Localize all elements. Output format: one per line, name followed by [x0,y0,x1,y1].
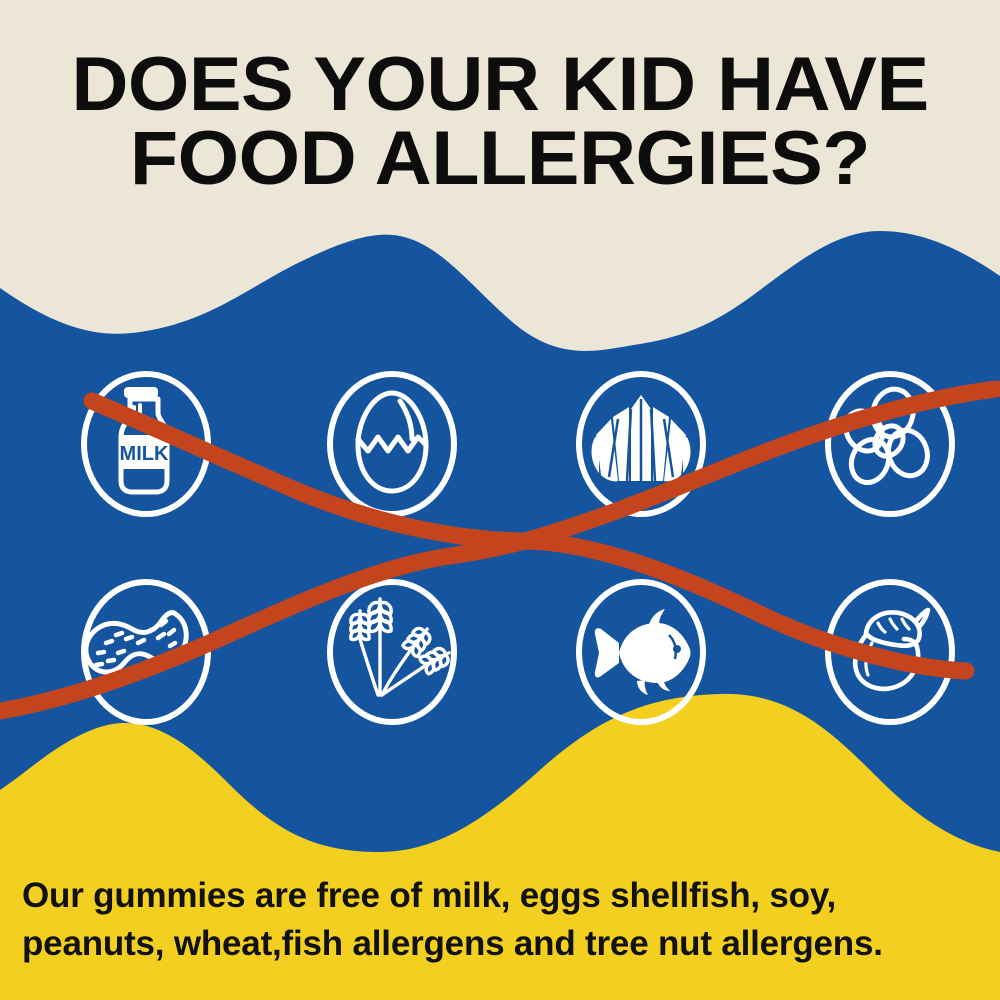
footer-line-2: peanuts, wheat,fish allergens and tree n… [22,920,980,968]
allergen-badge-eggs [322,369,462,519]
milk-bottle-icon: MILK [120,387,169,492]
soy-beans-icon [838,385,933,488]
allergen-icon-grid: MILK [0,0,1000,1000]
allergen-badge-shellfish [571,369,711,519]
allergy-infographic-poster: DOES YOUR KID HAVE FOOD ALLERGIES? MILK [0,0,1000,1000]
wheat-stalks-icon [351,599,453,695]
allergen-badge-wheat [322,577,462,727]
allergen-badge-milk: MILK [76,369,216,519]
allergen-badge-tree-nuts [820,577,960,727]
allergen-badge-soy [820,369,960,519]
acorn-icon [855,610,928,689]
allergen-badge-fish [571,577,711,727]
milk-bottle-label: MILK [120,443,169,465]
badge-ring [828,582,952,722]
allergen-badge-peanuts [76,577,216,727]
cracked-egg-icon [358,393,426,491]
peanut-icon [86,613,186,672]
footer-disclaimer: Our gummies are free of milk, eggs shell… [22,872,980,969]
footer-line-1: Our gummies are free of milk, eggs shell… [22,872,980,920]
